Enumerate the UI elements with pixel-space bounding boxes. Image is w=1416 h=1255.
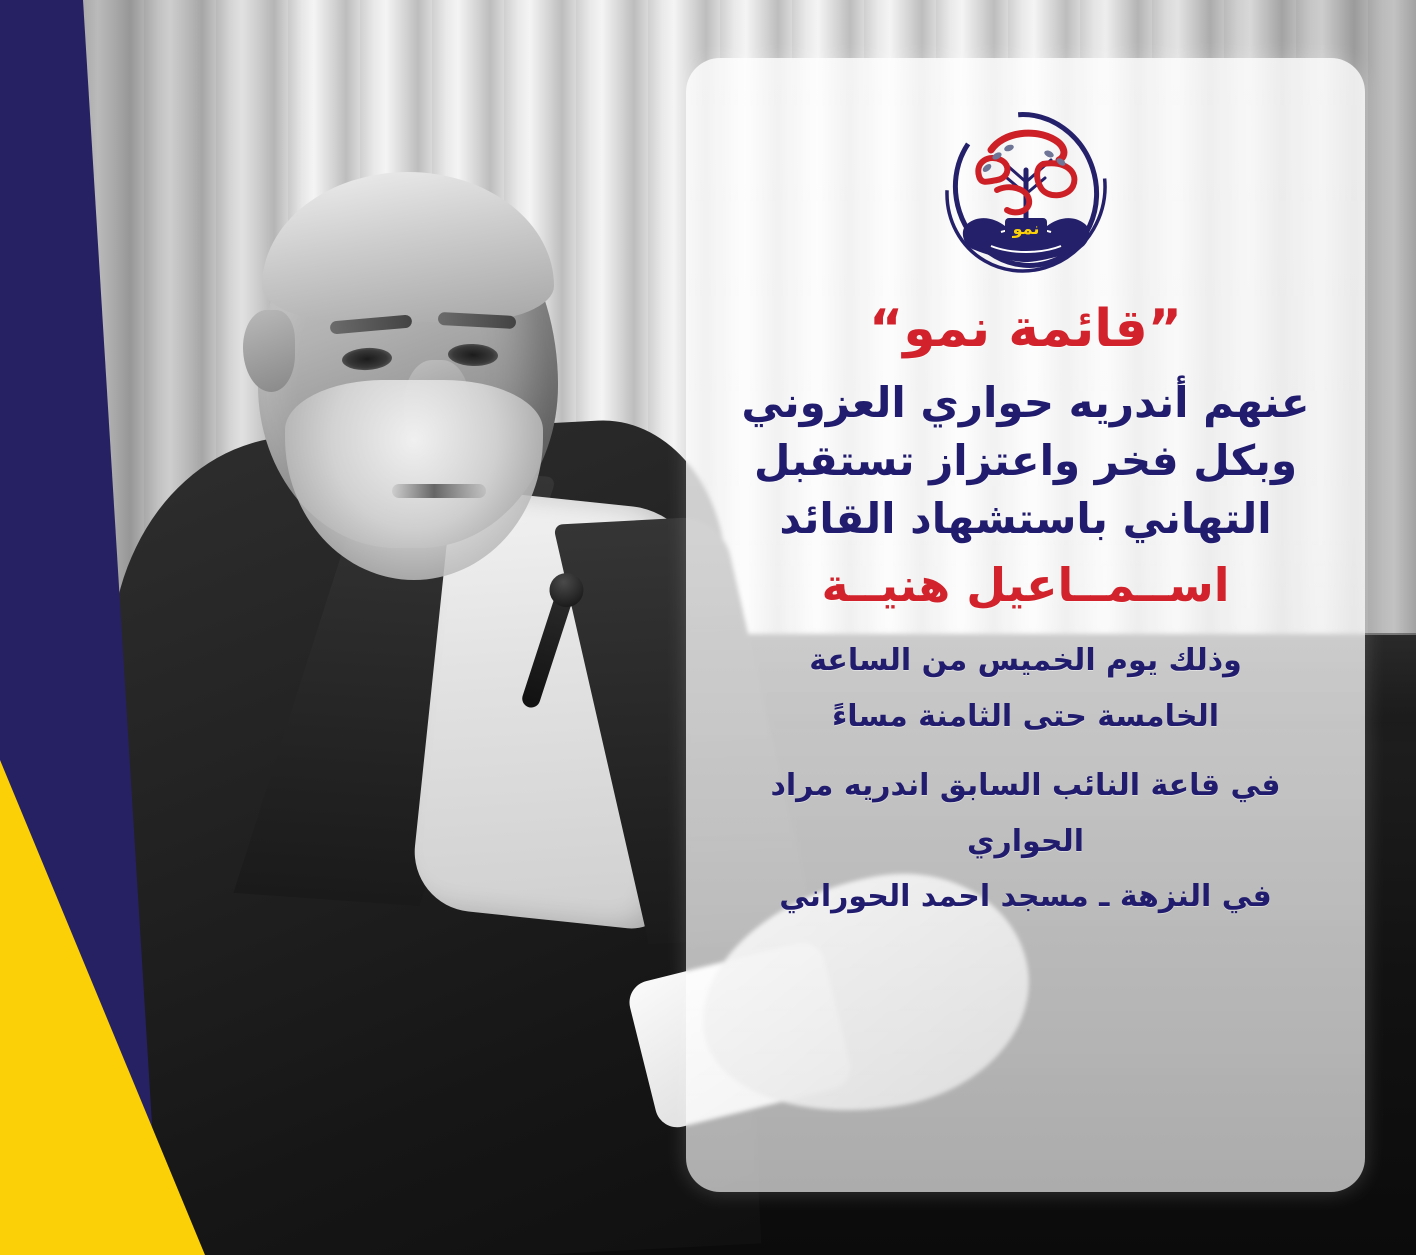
detail-line-4: في النزهة ـ مسجد احمد الحوراني — [779, 869, 1271, 925]
organization-logo: نمو — [931, 98, 1121, 288]
logo-calligraphy-left — [978, 158, 1007, 182]
detail-line-1: وذلك يوم الخميس من الساعة — [809, 633, 1242, 689]
detail-line-3: في قاعة النائب السابق اندريه مراد الحوار… — [712, 758, 1339, 869]
figure-mouth — [392, 484, 486, 498]
announcement-card: نمو ”قائمة نمو“ عنهم أندريه حواري العزون… — [686, 58, 1365, 1192]
body-line-2: وبكل فخر واعتزاز تستقبل — [754, 432, 1297, 490]
logo-badge-label: نمو — [1011, 219, 1039, 238]
poster-root: نمو ”قائمة نمو“ عنهم أندريه حواري العزون… — [0, 0, 1416, 1255]
poster-title: ”قائمة نمو“ — [869, 300, 1182, 360]
body-line-1: عنهم أندريه حواري العزوني — [741, 374, 1309, 432]
body-line-3: التهاني باستشهاد القائد — [779, 490, 1271, 548]
honoree-name: اســمــاعيل هنيــة — [821, 556, 1229, 616]
detail-line-2: الخامسة حتى الثامنة مساءً — [832, 689, 1219, 745]
organization-logo-svg: نمو — [931, 98, 1121, 288]
